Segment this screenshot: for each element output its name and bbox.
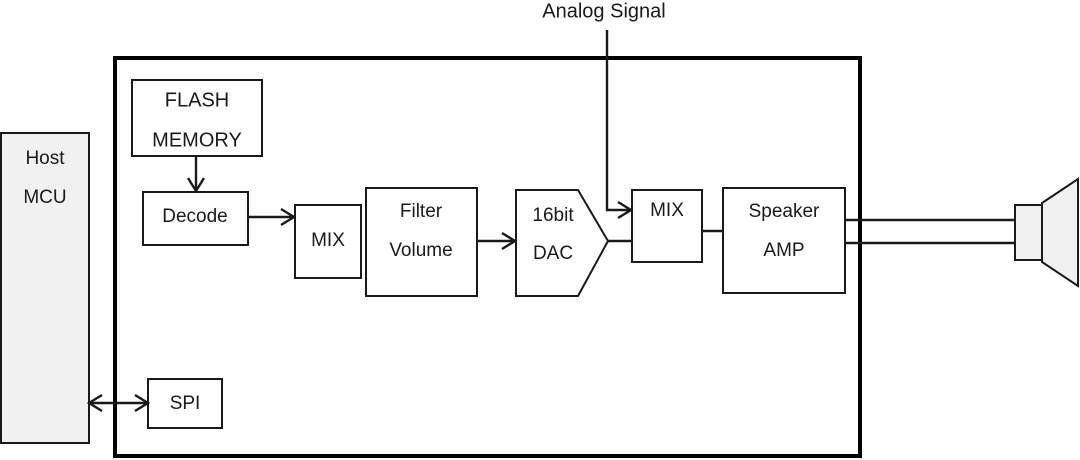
spi-block[interactable]: SPI [148,379,222,428]
analog-signal-label: Analog Signal [542,0,665,22]
host-mcu-box [1,133,89,443]
decode-block[interactable]: Decode [143,192,248,245]
host-mcu-block[interactable]: Host MCU [1,133,89,443]
speaker-cone [1042,179,1078,286]
speaker-magnet [1015,205,1042,260]
speaker-icon [1015,179,1078,286]
wire-amp-to-speaker [845,220,1016,243]
dac-label-line2: DAC [533,243,573,264]
flash-memory-label-line1: FLASH [165,89,229,111]
filter-volume-label-line2: Volume [389,240,452,261]
mix2-block[interactable]: MIX [632,190,702,262]
mix2-label: MIX [650,200,684,221]
host-mcu-label-line2: MCU [23,187,66,208]
filter-volume-label-line1: Filter [400,201,443,222]
dac-label-line1: 16bit [532,205,574,226]
spi-label: SPI [170,393,201,414]
host-mcu-label-line1: Host [25,148,65,169]
diagram-svg: Host MCU FLASH MEMORY Decode MIX [0,0,1080,460]
speaker-amp-label-line1: Speaker [749,201,820,222]
mix1-block[interactable]: MIX [295,205,361,278]
flash-memory-label-line2: MEMORY [152,129,242,151]
decode-label: Decode [162,206,228,227]
speaker-amp-block[interactable]: Speaker AMP [723,188,845,293]
block-diagram-canvas: Host MCU FLASH MEMORY Decode MIX [0,0,1080,460]
filter-volume-block[interactable]: Filter Volume [366,188,477,296]
speaker-amp-label-line2: AMP [763,240,804,261]
flash-memory-block[interactable]: FLASH MEMORY [132,80,262,156]
mix1-label: MIX [311,230,345,251]
